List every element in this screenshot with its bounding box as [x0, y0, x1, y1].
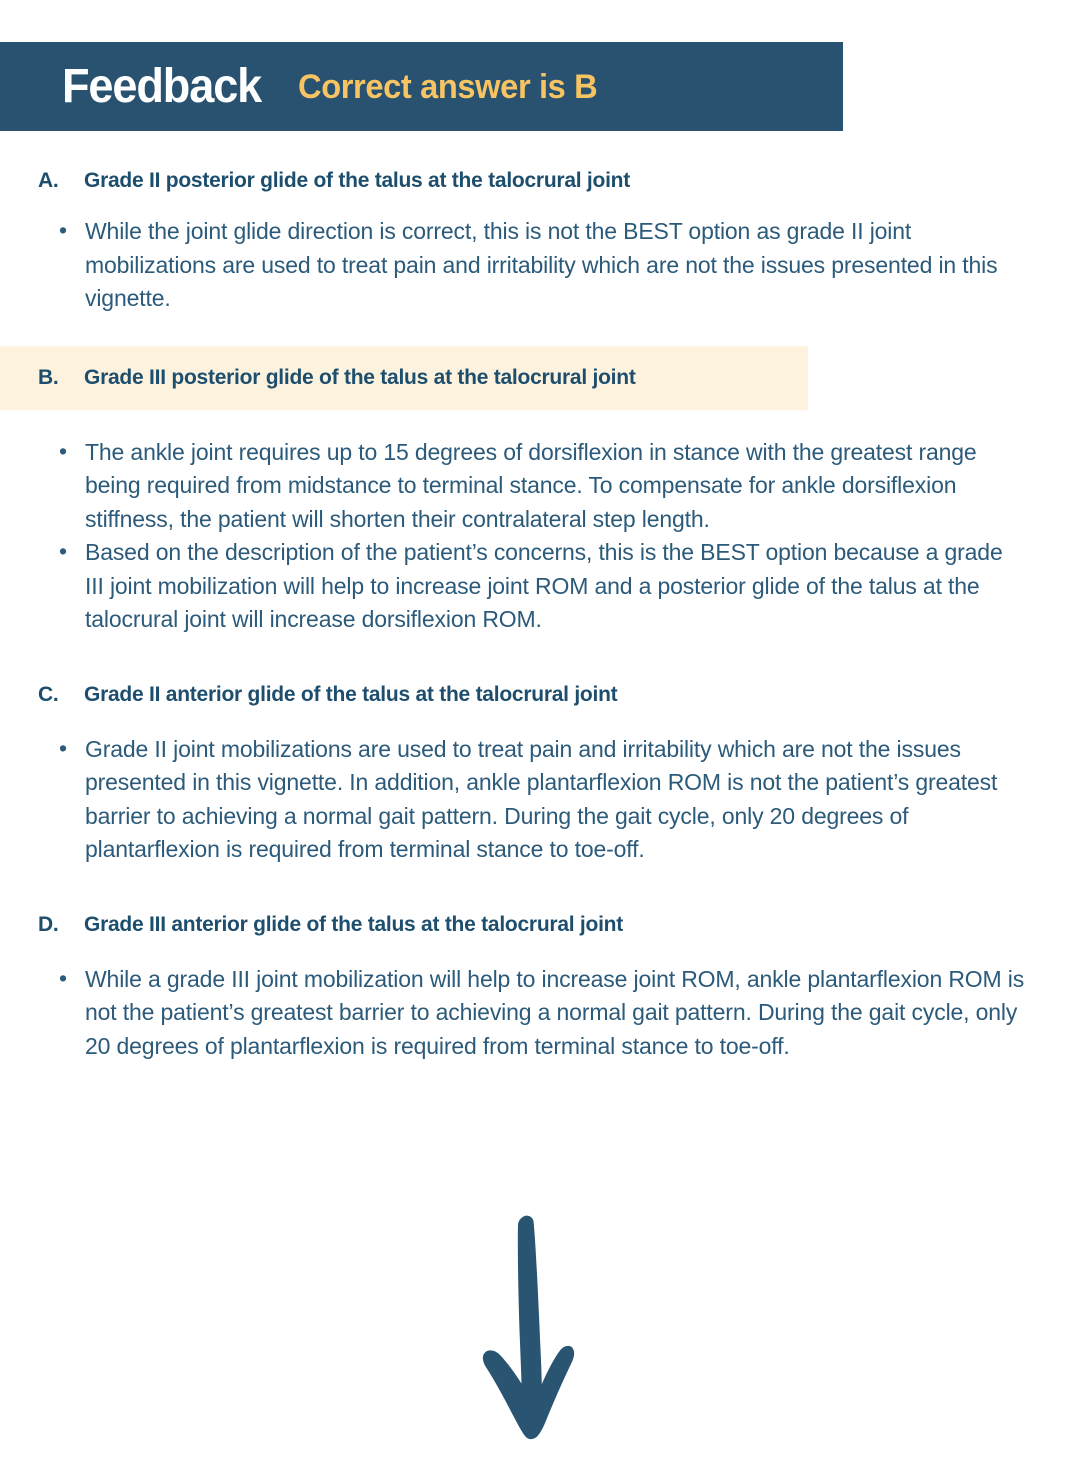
list-item: The ankle joint requires up to 15 degree… [0, 436, 1080, 537]
feedback-page: Feedback Correct answer is B A. Grade II… [0, 0, 1080, 1480]
option-bullets-a: While the joint glide direction is corre… [0, 215, 1080, 316]
option-heading-c: C. Grade II anterior glide of the talus … [0, 683, 1080, 707]
list-item: Based on the description of the patient’… [0, 536, 1080, 637]
list-item: While the joint glide direction is corre… [0, 215, 1080, 316]
option-heading-a: A. Grade II posterior glide of the talus… [0, 169, 1080, 193]
option-block-c: C. Grade II anterior glide of the talus … [0, 683, 1080, 867]
feedback-content: A. Grade II posterior glide of the talus… [0, 131, 1080, 1063]
option-heading-text-c: Grade II anterior glide of the talus at … [84, 683, 1080, 707]
option-letter-a: A. [38, 169, 84, 193]
option-letter-c: C. [38, 683, 84, 707]
option-letter-b: B. [38, 366, 84, 390]
down-arrow-icon [478, 1212, 598, 1442]
option-heading-d: D. Grade III anterior glide of the talus… [0, 913, 1080, 937]
option-block-a: A. Grade II posterior glide of the talus… [0, 169, 1080, 316]
option-bullets-b: The ankle joint requires up to 15 degree… [0, 436, 1080, 637]
list-item: Grade II joint mobilizations are used to… [0, 733, 1080, 867]
option-heading-text-b: Grade III posterior glide of the talus a… [84, 366, 808, 390]
option-heading-b: B. Grade III posterior glide of the talu… [0, 366, 808, 390]
feedback-header-banner: Feedback Correct answer is B [0, 42, 843, 131]
option-block-b: B. Grade III posterior glide of the talu… [0, 346, 1080, 637]
option-heading-text-d: Grade III anterior glide of the talus at… [84, 913, 1080, 937]
correct-option-highlight: B. Grade III posterior glide of the talu… [0, 346, 808, 410]
page-title: Feedback [62, 63, 261, 111]
list-item: While a grade III joint mobilization wil… [0, 963, 1080, 1064]
option-letter-d: D. [38, 913, 84, 937]
option-block-d: D. Grade III anterior glide of the talus… [0, 913, 1080, 1064]
correct-answer-label: Correct answer is B [298, 70, 597, 104]
option-bullets-c: Grade II joint mobilizations are used to… [0, 733, 1080, 867]
option-heading-text-a: Grade II posterior glide of the talus at… [84, 169, 1080, 193]
option-bullets-d: While a grade III joint mobilization wil… [0, 963, 1080, 1064]
